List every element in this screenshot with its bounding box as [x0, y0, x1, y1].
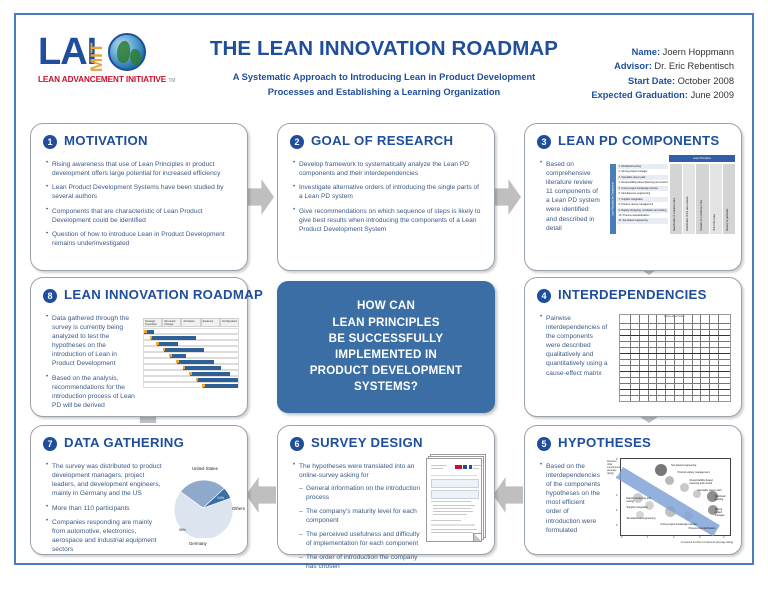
scatter-label-workload-leveling: Workload leveling [715, 495, 730, 501]
pie-value-others: 14% [217, 496, 224, 500]
pie-label-germany: Germany [189, 541, 207, 546]
mit-wordmark: MIT [90, 34, 104, 72]
column-header: Strategic Innovation [143, 318, 162, 327]
scatter-label-strong-project-manager: Strong project manager [715, 508, 730, 517]
panel-title-interdependencies: INTERDEPENDENCIES [558, 287, 707, 302]
table-column: Specification of customer value [669, 164, 682, 234]
meta-row-expected-graduation: Expected Graduation: June 2009 [591, 88, 734, 102]
panel-number-5: 5 [537, 437, 551, 451]
arrow-p5-to-p6 [493, 477, 523, 513]
meta-value-start-date: October 2008 [678, 76, 734, 86]
scatter-label-cross-project-knowledge-transfer: Cross-project knowledge transfer [660, 523, 697, 526]
list-item: Rising awareness that use of Lean Princi… [45, 160, 237, 178]
table-row: 11. Set-based engineering [617, 218, 668, 223]
list-item: The hypotheses were translated into an o… [292, 462, 420, 571]
interdependency-matrix-thumbnail: Cause-effect matrix — — — — — — [619, 314, 731, 402]
gantt-row [143, 346, 239, 352]
gantt-row [143, 328, 239, 334]
column-header-label: Identification of the value stream [686, 197, 689, 231]
scatter-label-supplier-integration: Supplier integration [626, 506, 648, 509]
table-column: Identification of the value stream [682, 164, 695, 234]
scatter-label-simultaneous-engineering: Simultaneous engineering [626, 517, 655, 520]
gantt-row [143, 376, 239, 382]
panel-number-7: 7 [43, 437, 57, 451]
gantt-phase-headers: Strategic Innovation Structural Change A… [143, 318, 239, 327]
list-item: The order of introduction the company ha… [299, 553, 420, 571]
meta-row-name: Name: Joern Hoppmann [591, 45, 734, 59]
x-tick-3: 3 [699, 536, 700, 539]
column-header: Evidence [201, 318, 220, 327]
pie-label-others: Others [232, 506, 245, 511]
list-item: Data gathered through the survey is curr… [45, 314, 137, 369]
panel-4-bullet-list: Pairwise interdependencies of the compon… [539, 314, 609, 383]
column-header-label: Pull of the value [713, 214, 716, 231]
gantt-row [143, 358, 239, 364]
scatter-label-process-standardization: Process standardization [689, 527, 716, 530]
poster-subtitle-line-2: Processes and Establishing a Learning Or… [184, 85, 584, 100]
list-item: Question of how to introduce Lean in Pro… [45, 230, 237, 248]
list-item: Give recommendations on which sequence o… [292, 207, 484, 234]
panel-title-data-gathering: DATA GATHERING [64, 435, 184, 450]
list-item-text: The hypotheses were translated into an o… [299, 463, 414, 479]
page-title: THE LEAN INNOVATION ROADMAP [184, 37, 584, 61]
column-header-label: Specification of customer value [673, 198, 676, 231]
meta-value-name: Joern Hoppmann [663, 47, 734, 57]
column-header: Activation [181, 318, 200, 327]
survey-page-front [426, 458, 482, 542]
table-row: 4. Responsibility-based planning and con… [617, 180, 668, 185]
column-header: Configuration [220, 318, 239, 327]
hypotheses-scatter-thumbnail: Requires other components (average ratin… [607, 456, 733, 548]
list-item: Based on the interdependencies of the co… [539, 462, 601, 535]
table-column: Creation of a continuous flow [695, 164, 708, 234]
panel-lean-innovation-roadmap: 8 LEAN INNOVATION ROADMAP Data gathered … [30, 277, 248, 417]
poster-subtitle: A Systematic Approach to Introducing Lea… [184, 70, 584, 100]
list-item: The company's maturity level for each co… [299, 507, 420, 525]
panel-title-lean-innovation-roadmap: LEAN INNOVATION ROADMAP [64, 287, 263, 302]
list-item: The perceived usefulness and difficulty … [299, 530, 420, 548]
column-header-label: Creation of a continuous flow [700, 200, 703, 231]
scatter-label-rapid-prototyping: Rapid prototyping and testing [626, 497, 654, 503]
central-research-question: HOW CAN LEAN PRINCIPLES BE SUCCESSFULLY … [277, 281, 495, 413]
meta-row-advisor: Advisor: Dr. Eric Rebentisch [591, 59, 734, 73]
panel-7-bullet-list: The survey was distributed to product de… [45, 462, 163, 559]
panel-8-bullet-list: Data gathered through the survey is curr… [45, 314, 137, 415]
poster-canvas: LAI MIT LEAN ADVANCEMENT INITIATIVE TM T… [14, 13, 754, 565]
panel-title-survey-design: SURVEY DESIGN [311, 435, 423, 450]
panel-3-bullet-list: Based on comprehensive literature review… [539, 160, 601, 238]
panel-number-4: 4 [537, 289, 551, 303]
matrix-header-lean-principles: Lean Principles [669, 155, 735, 162]
scatter-point-responsibility-based-planning [680, 483, 689, 492]
panel-title-lean-pd-components: LEAN PD COMPONENTS [558, 133, 719, 148]
x-tick-1: 1 [647, 536, 648, 539]
meta-value-advisor: Dr. Eric Rebentisch [654, 61, 734, 71]
table-column: Striving for perfection [722, 164, 735, 234]
panel-title-motivation: MOTIVATION [64, 133, 148, 148]
panel-title-hypotheses: HYPOTHESES [558, 435, 651, 450]
x-tick-0: 0 [621, 536, 622, 539]
list-item: General information on the introduction … [299, 484, 420, 502]
scatter-xlabel: Is required for other components (averag… [677, 541, 733, 544]
table-column: Pull of the value [709, 164, 722, 234]
trademark-mark: TM [168, 78, 175, 84]
panel-number-3: 3 [537, 135, 551, 149]
gantt-row [143, 352, 239, 358]
panel-number-6: 6 [290, 437, 304, 451]
matrix-column-headers: Specification of customer value Identifi… [669, 164, 735, 234]
poster-subtitle-line-1: A Systematic Approach to Introducing Lea… [184, 70, 584, 85]
panel-6-sub-list: General information on the introduction … [299, 484, 420, 571]
scatter-point-product-variety-management [665, 476, 674, 485]
list-item: Pairwise interdependencies of the compon… [539, 314, 609, 378]
arrow-p1-to-p2 [244, 179, 274, 215]
roadmap-gantt-thumbnail: Strategic Innovation Structural Change A… [143, 318, 239, 388]
list-item: Components that are characteristic of Le… [45, 207, 237, 225]
scatter-label-responsibility-based-planning: Responsibility-based planning and contro… [690, 479, 723, 485]
scatter-label-set-based-engineering: Set-based engineering [671, 464, 696, 467]
meta-row-start-date: Start Date: October 2008 [591, 74, 734, 88]
matrix-row-group-label-text: Lean Principles by Components [612, 182, 615, 216]
meta-label-name: Name: [632, 47, 660, 57]
lai-tagline: LEAN ADVANCEMENT INITIATIVE TM [38, 75, 175, 84]
panel-number-1: 1 [43, 135, 57, 149]
panel-number-2: 2 [290, 135, 304, 149]
list-item: More than 110 participants [45, 504, 163, 513]
scatter-label-product-variety-management: Product variety management [678, 471, 710, 474]
pie-value-united-states: 29% [192, 474, 199, 478]
panel-title-goal-of-research: GOAL OF RESEARCH [311, 133, 453, 148]
gantt-row [143, 340, 239, 346]
list-item: Based on the analysis, recommendations f… [45, 374, 137, 410]
lean-pd-components-matrix-thumbnail: Lean Principles Lean Principles by Compo… [610, 155, 735, 235]
list-item: Develop framework to systematically anal… [292, 160, 484, 178]
matrix-row-group-label: Lean Principles by Components [610, 164, 616, 234]
panel-6-bullet-list: The hypotheses were translated into an o… [292, 462, 420, 576]
scatter-point-set-based-engineering [655, 464, 667, 476]
scatter-plot-area: Most efficient order of implementation S… [620, 458, 731, 536]
panel-5-bullet-list: Based on the interdependencies of the co… [539, 462, 601, 540]
panel-motivation: 1 MOTIVATION Rising awareness that use o… [30, 123, 248, 271]
list-item: Based on comprehensive literature review… [539, 160, 601, 233]
panel-interdependencies: 4 INTERDEPENDENCIES Pairwise interdepend… [524, 277, 742, 417]
column-header-label: Striving for perfection [726, 208, 729, 231]
meta-label-expected-graduation: Expected Graduation: [591, 90, 688, 100]
list-item: Companies responding are mainly from aut… [45, 518, 163, 554]
lai-mit-logo: LAI MIT LEAN ADVANCEMENT INITIATIVE TM [38, 31, 178, 93]
y-tick-2: 2 [616, 494, 617, 497]
lai-tagline-text: LEAN ADVANCEMENT INITIATIVE [38, 75, 166, 84]
gantt-row [143, 364, 239, 370]
panel-hypotheses: 5 HYPOTHESES Based on the interdependenc… [524, 425, 742, 555]
survey-document-thumbnail [426, 454, 486, 542]
poster-title-block: THE LEAN INNOVATION ROADMAP A Systematic… [184, 37, 584, 100]
y-tick-3: 3 [616, 458, 617, 461]
meta-label-start-date: Start Date: [628, 76, 675, 86]
gantt-row [143, 334, 239, 340]
arrow-p6-to-p7 [246, 477, 276, 513]
participants-pie-chart: United States 29% Others 14% Germany 58% [165, 458, 245, 550]
panel-1-bullet-list: Rising awareness that use of Lean Princi… [45, 160, 237, 254]
pie-label-united-states: United States [192, 466, 218, 471]
pie-value-germany: 58% [179, 528, 186, 532]
y-tick-0: 0 [616, 524, 617, 527]
column-header: Structural Change [162, 318, 181, 327]
page-fold-corner [473, 533, 481, 541]
panel-number-8: 8 [43, 289, 57, 303]
meta-label-advisor: Advisor: [614, 61, 652, 71]
scatter-label-specialist-career-path: Specialist career path [697, 489, 721, 492]
list-item: Lean Product Development Systems have be… [45, 183, 237, 201]
gantt-row [143, 370, 239, 376]
x-tick-2: 2 [673, 536, 674, 539]
globe-icon [108, 33, 146, 71]
poster-header: LAI MIT LEAN ADVANCEMENT INITIATIVE TM T… [16, 15, 752, 111]
matrix-row-labels: 1. Workload leveling 2. Strong project m… [617, 164, 668, 234]
x-tick-4: 4 [723, 536, 724, 539]
central-research-question-text: HOW CAN LEAN PRINCIPLES BE SUCCESSFULLY … [310, 298, 463, 395]
panel-2-bullet-list: Develop framework to systematically anal… [292, 160, 484, 239]
list-item: Investigate alternative orders of introd… [292, 183, 484, 201]
panel-lean-pd-components: 3 LEAN PD COMPONENTS Based on comprehens… [524, 123, 742, 271]
arrow-p2-to-p3 [491, 179, 521, 215]
list-item: The survey was distributed to product de… [45, 462, 163, 498]
y-tick-1: 1 [616, 509, 617, 512]
panel-data-gathering: 7 DATA GATHERING The survey was distribu… [30, 425, 248, 555]
meta-value-expected-graduation: June 2009 [691, 90, 734, 100]
panel-survey-design: 6 SURVEY DESIGN The hypotheses were tran… [277, 425, 495, 555]
author-meta-block: Name: Joern Hoppmann Advisor: Dr. Eric R… [591, 45, 734, 102]
gantt-row [143, 382, 239, 388]
panel-goal-of-research: 2 GOAL OF RESEARCH Develop framework to … [277, 123, 495, 271]
